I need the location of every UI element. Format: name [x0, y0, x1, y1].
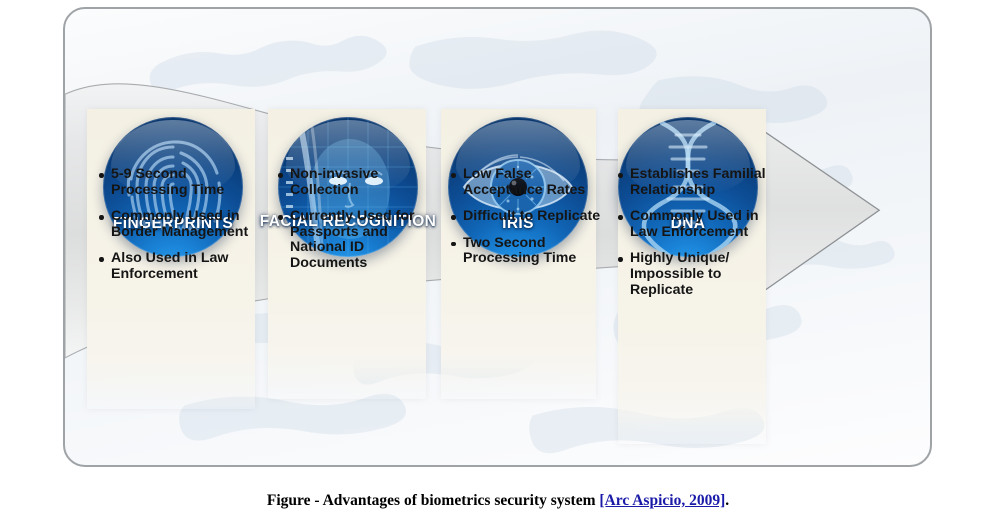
list-item: Establishes Familial Relationship — [617, 167, 767, 198]
figure-container: FINGERPRINTS 5-9 Second Processing Time … — [63, 7, 932, 467]
list-item: Difficult to Replicate — [450, 209, 602, 225]
caption-citation-link[interactable]: [Arc Aspicio, 2009] — [599, 492, 725, 509]
caption-period: . — [725, 492, 729, 509]
facial-recognition-bullet-list: Non-invasive Collection Currently Used f… — [277, 167, 429, 283]
list-item: Commonly Used in Law Enforcement — [617, 209, 767, 240]
list-item: Two Second Processing Time — [450, 236, 602, 267]
list-item: Also Used in Law Enforcement — [98, 251, 258, 282]
list-item: Currently Used for Passports and Nationa… — [277, 209, 429, 271]
caption-text: Figure - Advantages of biometrics securi… — [267, 492, 599, 509]
fingerprints-bullet-list: 5-9 Second Processing Time Commonly Used… — [98, 167, 258, 294]
list-item: 5-9 Second Processing Time — [98, 167, 258, 198]
list-item: Non-invasive Collection — [277, 167, 429, 198]
dna-bullet-list: Establishes Familial Relationship Common… — [617, 167, 767, 309]
list-item: Highly Unique/ Impossible to Replicate — [617, 251, 767, 298]
figure-caption: Figure - Advantages of biometrics securi… — [0, 492, 996, 510]
list-item: Commonly Used in Border Management — [98, 209, 258, 240]
list-item: Low False Acceptance Rates — [450, 167, 602, 198]
iris-bullet-list: Low False Acceptance Rates Difficult to … — [450, 167, 602, 278]
